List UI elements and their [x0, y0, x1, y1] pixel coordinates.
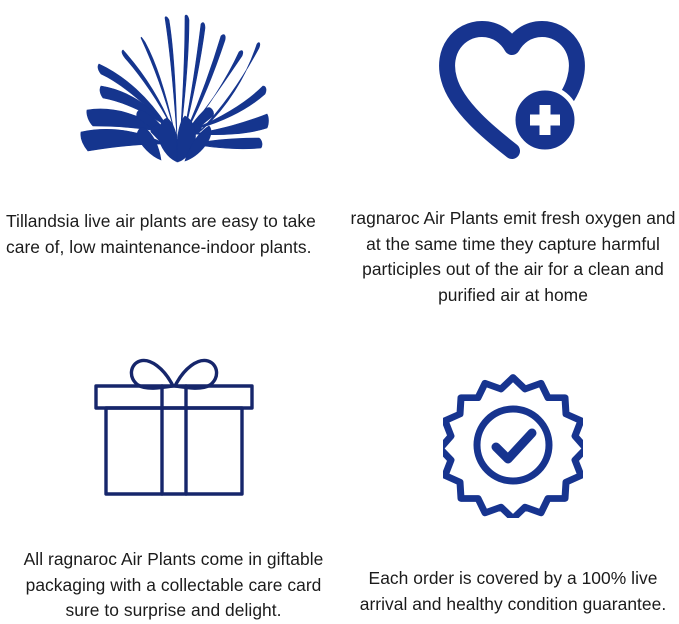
gift-box-icon: [84, 354, 264, 499]
heart-plus-icon-wrapper: [347, 0, 679, 163]
heart-plus-icon: [437, 21, 589, 163]
air-plant-icon: [79, 14, 269, 166]
benefit-card-guarantee: Each order is covered by a 100% live arr…: [347, 308, 679, 617]
benefit-text-giftable: All ragnaroc Air Plants come in giftable…: [0, 499, 347, 624]
benefit-text-air-plant: Tillandsia live air plants are easy to t…: [0, 166, 347, 260]
air-plant-icon-wrapper: [0, 0, 347, 166]
guarantee-badge-icon-wrapper: [347, 308, 679, 518]
benefit-card-air-plant: Tillandsia live air plants are easy to t…: [0, 0, 347, 308]
benefit-text-guarantee: Each order is covered by a 100% live arr…: [347, 518, 679, 617]
benefit-text-air-purifying: ragnaroc Air Plants emit fresh oxygen an…: [347, 163, 679, 308]
guarantee-badge-icon: [443, 372, 583, 518]
gift-box-icon-wrapper: [0, 308, 347, 499]
benefit-card-giftable: All ragnaroc Air Plants come in giftable…: [0, 308, 347, 617]
benefit-card-air-purifying: ragnaroc Air Plants emit fresh oxygen an…: [347, 0, 679, 308]
benefits-grid: Tillandsia live air plants are easy to t…: [0, 0, 679, 617]
